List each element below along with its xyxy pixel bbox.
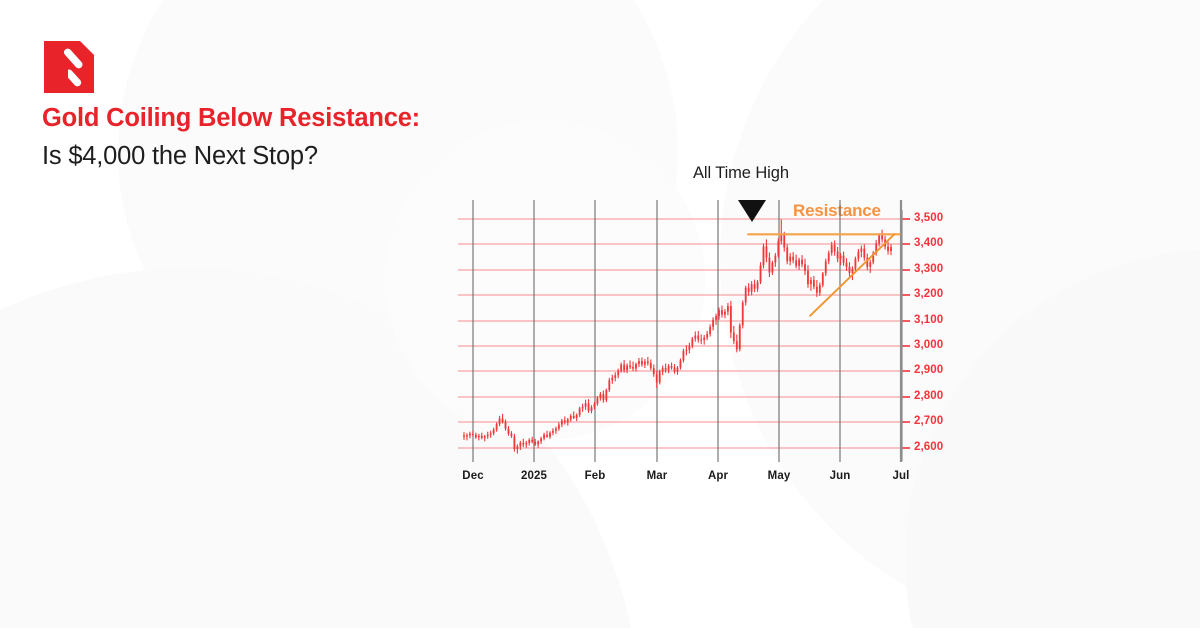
candle-body [736,341,738,349]
candle-body [546,435,548,437]
candle-body [591,407,593,411]
candle-body [727,306,729,312]
candle-body [472,434,474,435]
candle-body [846,263,848,267]
candle-body [810,280,812,284]
candle-body [849,267,851,273]
y-axis-label: 3,200 [914,288,943,300]
candle-body [534,442,536,445]
candle-body [712,320,714,327]
candle-body [671,366,673,368]
candle-body [822,273,824,285]
x-axis-label: Feb [585,470,606,482]
candle-body [561,421,563,425]
candle-body [881,235,883,239]
candle-body [594,404,596,408]
candle-body [730,306,732,332]
candle-body [537,441,539,444]
y-axis-label: 2,900 [914,364,943,376]
candle-body [475,435,477,438]
candle-body [683,351,685,361]
candle-body [694,336,696,339]
candle-body [860,249,862,252]
y-axis-label: 3,000 [914,339,943,351]
candle-body [739,325,741,349]
candle-body [617,371,619,376]
candle-body [635,364,637,369]
candle-body [685,350,687,351]
candle-body [656,374,658,382]
candle-body [852,269,854,273]
candle-body [597,398,599,404]
gold-price-chart [440,155,970,500]
candle-body [608,380,610,390]
candle-body [721,310,723,315]
candle-body [502,418,504,422]
candle-body [516,446,518,449]
candle-body [484,436,486,438]
candle-body [774,256,776,263]
poster-canvas: Gold Coiling Below Resistance: Is $4,000… [0,0,1200,628]
candle-body [519,443,521,447]
candle-body [677,368,679,372]
candle-body [763,246,765,265]
candle-body [691,339,693,346]
candle-body [570,416,572,420]
candle-body [599,394,601,398]
vertical-gridlines [473,200,901,462]
y-axis-label: 2,800 [914,390,943,402]
candle-body [751,284,753,292]
candle-body [605,390,607,400]
candle-body [611,378,613,381]
candle-body [585,403,587,407]
flag-pen-logo-icon [44,41,94,93]
candle-body [573,416,575,418]
candle-body [742,302,744,325]
x-axis-label: Jun [830,470,851,482]
candle-body [522,443,524,445]
candle-body [511,434,513,437]
candle-body [614,375,616,378]
candle-body [703,338,705,341]
candle-body [828,253,830,261]
candle-body [819,285,821,293]
candle-body [789,257,791,262]
candle-body [878,235,880,243]
candle-body [715,316,717,320]
candle-body [674,368,676,372]
candle-body [786,247,788,261]
candle-body [709,327,711,334]
y-axis-label: 3,500 [914,212,943,224]
chart-canvas [440,155,970,500]
candle-body [644,361,646,364]
candle-body [798,260,800,266]
candle-body [745,288,747,303]
candle-body [540,438,542,441]
candle-body [733,332,735,341]
candle-body [653,368,655,374]
y-axis-label: 2,700 [914,415,943,427]
candle-body [869,262,871,267]
candle-body [801,260,803,265]
candle-body [771,263,773,273]
candle-body [579,408,581,415]
candle-body [641,361,643,365]
candle-body [582,407,584,409]
x-axis-label: Jul [893,470,910,482]
candle-body [481,436,483,438]
candle-body [662,368,664,372]
candle-body [490,433,492,435]
candle-body [813,280,815,287]
candle-body [804,264,806,271]
candle-body [887,246,889,251]
candle-body [668,366,670,370]
candle-body [469,434,471,436]
candle-body [659,372,661,383]
candle-body [760,265,762,282]
candle-body [549,433,551,437]
x-axis-label: Mar [647,470,668,482]
candle-body [466,435,468,436]
candle-body [564,421,566,423]
candlestick-series [463,220,892,454]
candle-body [697,336,699,340]
candle-body [792,257,794,261]
candle-body [754,284,756,289]
candle-body [724,312,726,315]
candle-body [840,256,842,259]
candle-body [780,235,782,242]
candle-body [863,249,865,258]
candle-body [665,368,667,370]
candle-body [496,424,498,430]
candle-body [513,436,515,449]
candle-body [499,418,501,424]
candle-body [632,367,634,369]
candle-body [558,425,560,429]
candle-body [757,282,759,289]
y-axis-label: 3,300 [914,263,943,275]
x-axis-label: Dec [462,470,483,482]
candle-body [647,361,649,363]
x-axis-label: Apr [708,470,728,482]
candle-body [816,287,818,293]
candle-body [525,443,527,445]
candle-body [857,252,859,259]
candle-body [688,346,690,350]
x-axis-label: May [768,470,791,482]
candle-body [783,235,785,248]
candle-body [508,429,510,434]
y-axis-label: 3,100 [914,314,943,326]
candle-body [528,440,530,443]
candle-body [831,245,833,253]
candle-body [706,334,708,338]
candle-body [680,360,682,367]
y-axis-label: 3,400 [914,237,943,249]
candle-body [588,403,590,411]
candle-body [493,430,495,434]
candle-body [567,420,569,423]
candle-body [602,394,604,400]
candle-body [650,363,652,368]
candle-body [552,431,554,433]
candle-body [629,366,631,368]
candle-body [834,245,836,252]
x-axis-label: 2025 [521,470,547,482]
candle-body [626,366,628,371]
candle-body [837,252,839,259]
candle-body [531,440,533,442]
candle-body [748,288,750,292]
candle-body [638,361,640,364]
candle-body [543,435,545,439]
candle-body [623,365,625,371]
candle-body [718,310,720,316]
candle-body [854,259,856,269]
candle-body [478,436,480,438]
trendline-overlays [748,234,901,315]
candle-body [777,241,779,255]
y-axis-label: 2,600 [914,441,943,453]
page-title: Gold Coiling Below Resistance: [42,104,420,133]
candle-body [825,261,827,273]
page-subtitle: Is $4,000 the Next Stop? [42,142,318,171]
candle-body [505,422,507,429]
candle-body [766,246,768,257]
candle-body [463,435,465,436]
candle-body [576,415,578,418]
candle-body [620,365,622,371]
candle-body [807,271,809,284]
candle-body [487,435,489,437]
candle-body [890,247,892,251]
candle-body [843,256,845,263]
candle-body [795,260,797,266]
candle-body [769,258,771,273]
candle-body [700,340,702,341]
candle-body [555,429,557,431]
